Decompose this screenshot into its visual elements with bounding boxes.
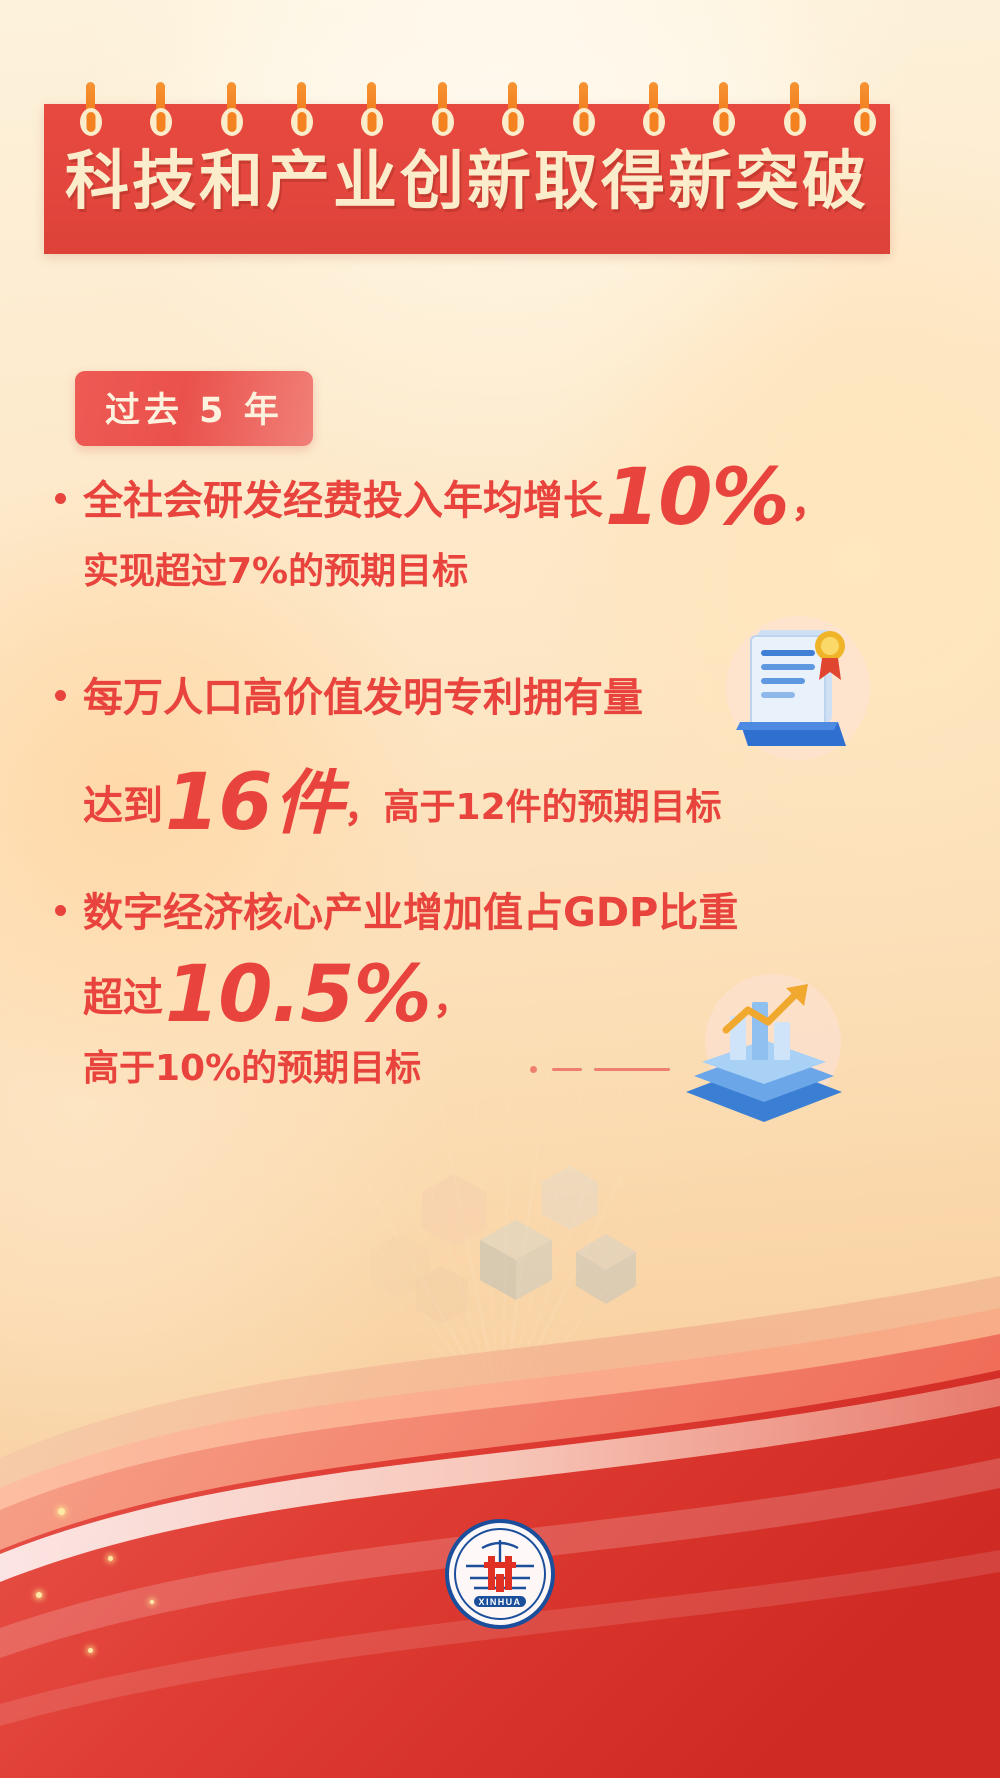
- bullet-prefix: 达到: [83, 773, 163, 831]
- bullet-text: 数字经济核心产业增加值占GDP比重: [83, 880, 738, 938]
- comma: ，: [344, 775, 384, 833]
- xinhua-news-agency-logo: XINHUA: [444, 1518, 556, 1630]
- bullet-dot-icon: [55, 690, 66, 701]
- highlight-value: 10%: [605, 467, 789, 529]
- bullet-rd-spending: 全社会研发经费投入年均增长 10% ， 实现超过7%的预期目标: [55, 457, 945, 594]
- sparkle: [150, 1600, 154, 1604]
- highlight-unit: 件: [274, 747, 344, 848]
- ring-hole-icon: [361, 108, 383, 136]
- bullet-line: 数字经济核心产业增加值占GDP比重: [55, 880, 945, 938]
- ring-hole-icon: [80, 108, 102, 136]
- ring-hole-icon: [432, 108, 454, 136]
- period-badge: 过去 5 年: [75, 371, 313, 446]
- infographic-poster: 科技和产业创新取得新突破 过去 5 年 全社会研发经费投入年均增长 10% ， …: [0, 0, 1000, 1778]
- bullet-subtext: 实现超过7%的预期目标: [83, 542, 468, 594]
- bullet-subtext: 高于10%的预期目标: [83, 1039, 421, 1091]
- bullet-prefix: 超过: [83, 965, 163, 1023]
- bullet-text: 全社会研发经费投入年均增长: [83, 468, 603, 526]
- bullet-suffix: 高于12件的预期目标: [384, 778, 722, 830]
- sparkle: [108, 1556, 113, 1561]
- ring-hole-icon: [502, 108, 524, 136]
- ring-hole-icon: [221, 108, 243, 136]
- sparkle: [58, 1508, 65, 1515]
- ring-hole-icon: [291, 108, 313, 136]
- notebook-rings: [44, 86, 890, 146]
- ring-hole-icon: [150, 108, 172, 136]
- logo-wordmark: XINHUA: [479, 1597, 522, 1607]
- bullet-line: 实现超过7%的预期目标: [55, 542, 945, 594]
- ring-hole-icon: [854, 108, 876, 136]
- bullet-line: 全社会研发经费投入年均增长 10% ，: [55, 457, 945, 526]
- bullet-dot-icon: [55, 493, 66, 504]
- bullet-text: 每万人口高价值发明专利拥有量: [83, 665, 643, 723]
- patent-certificate-icon: [718, 606, 878, 766]
- highlight-value: 10.5%: [165, 964, 431, 1026]
- highlight-value: 16: [165, 772, 272, 834]
- ring-hole-icon: [713, 108, 735, 136]
- ring-hole-icon: [784, 108, 806, 136]
- ring-hole-icon: [643, 108, 665, 136]
- bullet-dot-icon: [55, 905, 66, 916]
- growth-chart-icon: [668, 970, 858, 1130]
- ring-hole-icon: [573, 108, 595, 136]
- dashed-connector: [530, 1068, 670, 1071]
- comma: ，: [433, 967, 473, 1025]
- bottom-red-wave: [0, 1158, 1000, 1778]
- sparkle: [36, 1592, 42, 1598]
- period-badge-label: 过去 5 年: [105, 382, 283, 433]
- sparkle: [88, 1648, 93, 1653]
- connector-dot-icon: [530, 1066, 537, 1073]
- comma: ，: [791, 470, 831, 528]
